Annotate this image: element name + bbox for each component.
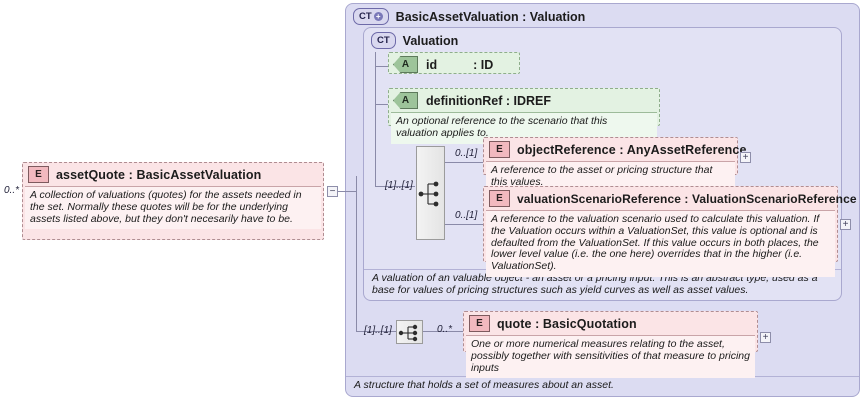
element-quote-documentation: One or more numerical measures relating … [466,335,755,378]
element-valuationscenarioreference-title: valuationScenarioReference : ValuationSc… [517,192,857,206]
connector-branch-id [375,66,388,67]
schema-diagram-canvas: 0..* E assetQuote : BasicAssetValuation … [0,0,865,401]
sequence-compositor-2[interactable] [396,320,423,344]
element-quote-title: quote : BasicQuotation [497,317,637,331]
valuationscenarioreference-multiplicity: 0..[1] [455,210,477,221]
element-assetquote-title: assetQuote : BasicAssetValuation [56,168,261,182]
attribute-id-type: : ID [473,58,493,72]
attribute-definitionref-title: definitionRef : IDREF [426,94,551,108]
element-badge-icon: E [489,190,510,207]
sequence-compositor-1[interactable] [416,146,445,240]
element-objectreference[interactable]: E objectReference : AnyAssetReference A … [483,137,738,175]
element-badge-icon: E [28,166,49,183]
sequence-icon [417,147,446,241]
element-assetquote[interactable]: E assetQuote : BasicAssetValuation A col… [22,162,324,240]
expand-toggle-objectreference[interactable]: + [740,152,751,163]
sequence-1-multiplicity: [1]..[1] [385,180,413,191]
objectreference-multiplicity: 0..[1] [455,148,477,159]
attribute-id-header: A id : ID [389,53,519,76]
sequence-2-multiplicity: [1]..[1] [364,325,392,336]
quote-multiplicity: 0..* [437,324,452,335]
connector-branch-definitionref [375,104,388,105]
element-objectreference-title: objectReference : AnyAssetReference [517,143,747,157]
complextype-valuation-header: CT Valuation [364,28,841,51]
element-quote-header: E quote : BasicQuotation [464,312,757,335]
expand-toggle-valuationscenarioreference[interactable]: + [840,219,851,230]
complextype-basicassetvaluation-header: CT+ BasicAssetValuation : Valuation [346,4,859,27]
attribute-badge-icon: A [393,56,418,73]
connector-outer-trunk-vertical [356,176,357,331]
complextype-badge-label: CT [359,11,372,22]
complextype-valuation-badge-icon[interactable]: CT [371,32,396,49]
complextype-basicassetvaluation-footer: A structure that holds a set of measures… [346,376,859,396]
collapse-toggle-assetquote[interactable]: − [327,186,338,197]
connector-sequence1-to-objectreference [445,162,483,163]
attribute-id-name: id [426,58,437,72]
element-badge-icon: E [489,141,510,158]
attribute-definitionref-header: A definitionRef : IDREF [389,89,659,112]
connector-outer-trunk-in [345,191,357,192]
expand-toggle-quote[interactable]: + [760,332,771,343]
element-quote[interactable]: E quote : BasicQuotation One or more num… [463,311,758,352]
complextype-basicassetvaluation-title: BasicAssetValuation : Valuation [396,10,586,24]
element-valuationscenarioreference[interactable]: E valuationScenarioReference : Valuation… [483,186,838,262]
complextype-valuation-badge-label: CT [377,35,390,46]
expand-plus-icon: + [374,12,383,21]
complextype-badge-icon[interactable]: CT+ [353,8,389,25]
element-badge-icon: E [469,315,490,332]
sequence-icon [397,321,424,345]
connector-trunk-vertical [375,52,376,186]
element-assetquote-header: E assetQuote : BasicAssetValuation [23,163,323,186]
attribute-id[interactable]: A id : ID [388,52,520,74]
element-valuationscenarioreference-header: E valuationScenarioReference : Valuation… [484,187,837,210]
attribute-definitionref[interactable]: A definitionRef : IDREF An optional refe… [388,88,660,126]
connector-sequence1-to-valuationscenarioref [445,224,483,225]
connector-assetquote-to-type [338,191,345,192]
element-assetquote-documentation: A collection of valuations (quotes) for … [25,186,321,229]
element-objectreference-header: E objectReference : AnyAssetReference [484,138,737,161]
attribute-badge-icon: A [393,92,418,109]
complextype-valuation-title: Valuation [403,34,459,48]
element-valuationscenarioreference-documentation: A reference to the valuation scenario us… [486,210,835,277]
assetquote-multiplicity: 0..* [4,185,19,196]
